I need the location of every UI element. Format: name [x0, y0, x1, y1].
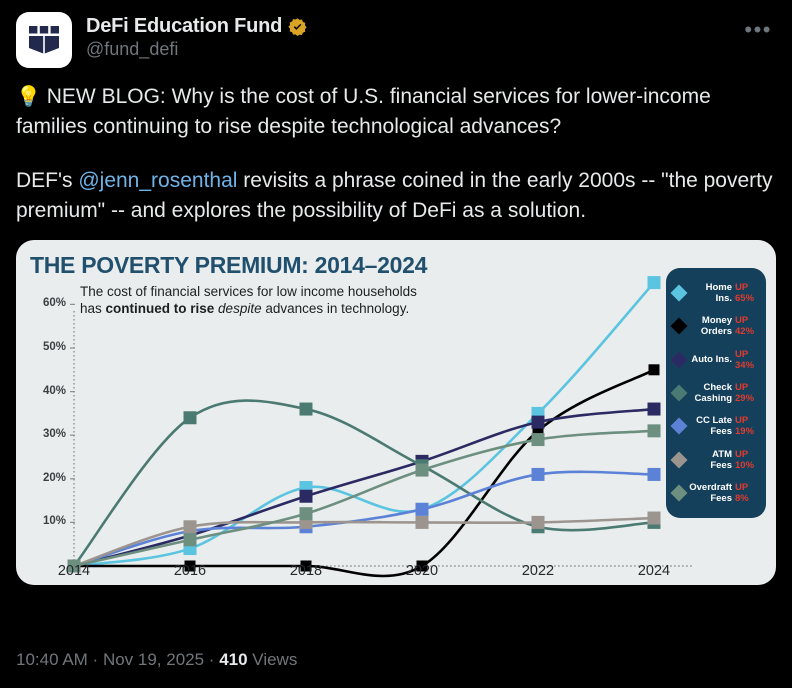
series-marker-2-4: [532, 416, 545, 429]
verified-badge-icon: [288, 17, 307, 36]
legend-change: UP8%: [735, 482, 760, 504]
legend-swatch-icon: [671, 284, 688, 301]
views-count: 410: [219, 650, 247, 669]
y-tick-30%: 30%: [32, 428, 66, 440]
x-tick-2018: 2018: [276, 563, 336, 579]
legend-label: CC Late Fees: [688, 415, 732, 437]
series-marker-6-4: [532, 433, 545, 446]
paragraph-spacer: [16, 142, 776, 166]
series-line-3: [74, 401, 654, 566]
meta-sep-2: ·: [204, 650, 219, 669]
legend-label: ATM Fees: [688, 449, 732, 471]
tweet-time: 10:40 AM: [16, 650, 88, 669]
more-options-icon[interactable]: •••: [740, 18, 776, 42]
y-tick-50%: 50%: [32, 341, 66, 353]
series-marker-1-5: [649, 364, 660, 375]
x-tick-2020: 2020: [392, 563, 452, 579]
x-tick-2014: 2014: [44, 563, 104, 579]
legend-item-6[interactable]: Overdraft FeesUP8%: [672, 482, 760, 504]
legend-change: UP65%: [735, 282, 760, 304]
series-marker-6-2: [300, 507, 313, 520]
legend-swatch-icon: [671, 418, 688, 435]
series-marker-4-5: [648, 468, 661, 481]
tweet-paragraph-1: 💡 NEW BLOG: Why is the cost of U.S. fina…: [16, 82, 776, 142]
defi-education-fund-logo: [24, 20, 64, 60]
legend-label: Overdraft Fees: [688, 482, 732, 504]
legend-swatch-icon: [671, 384, 688, 401]
x-tick-2024: 2024: [624, 563, 684, 579]
tweet-metadata: 10:40 AM · Nov 19, 2025 · 410 Views: [16, 650, 297, 670]
series-line-5: [74, 518, 654, 566]
series-marker-3-1: [184, 411, 197, 424]
chart-legend: Home Ins.UP65%Money OrdersUP42%Auto Ins.…: [666, 268, 766, 518]
legend-item-5[interactable]: ATM FeesUP10%: [672, 449, 760, 471]
legend-change: UP34%: [735, 349, 760, 371]
legend-swatch-icon: [671, 351, 688, 368]
series-marker-2-5: [648, 403, 661, 416]
series-marker-0-5: [648, 276, 661, 289]
display-name[interactable]: DeFi Education Fund: [86, 15, 282, 38]
legend-swatch-icon: [671, 485, 688, 502]
legend-swatch-icon: [671, 318, 688, 335]
meta-sep-1: ·: [88, 650, 103, 669]
series-marker-6-1: [184, 533, 197, 546]
chart-image-card[interactable]: THE POVERTY PREMIUM: 2014–2024 The cost …: [16, 240, 776, 585]
legend-label: Home Ins.: [688, 282, 732, 304]
legend-change: UP19%: [735, 415, 760, 437]
y-tick-10%: 10%: [32, 515, 66, 527]
views-label: Views: [248, 650, 298, 669]
poverty-premium-line-chart: [16, 240, 776, 585]
mention-link[interactable]: @jenn_rosenthal: [78, 169, 237, 192]
tweet-line-1: NEW BLOG: Why is the cost of U.S. financ…: [16, 85, 711, 138]
legend-change: UP10%: [735, 449, 760, 471]
series-marker-5-5: [648, 512, 661, 525]
tweet-card: DeFi Education Fund @fund_defi ••• 💡 NEW…: [0, 0, 792, 688]
avatar[interactable]: [16, 12, 72, 68]
tweet-date: Nov 19, 2025: [103, 650, 204, 669]
chart-series-markers: [68, 276, 661, 572]
x-tick-2016: 2016: [160, 563, 220, 579]
legend-change: UP42%: [735, 315, 760, 337]
legend-item-4[interactable]: CC Late FeesUP19%: [672, 415, 760, 437]
tweet-line-2-pre: DEF's: [16, 169, 78, 192]
series-marker-3-2: [300, 403, 313, 416]
y-tick-20%: 20%: [32, 472, 66, 484]
tweet-header: DeFi Education Fund @fund_defi •••: [0, 0, 792, 68]
account-handle[interactable]: @fund_defi: [86, 39, 740, 60]
legend-swatch-icon: [671, 451, 688, 468]
series-marker-5-3: [416, 516, 429, 529]
legend-label: Money Orders: [688, 315, 732, 337]
series-line-4: [74, 472, 654, 566]
tweet-text: 💡 NEW BLOG: Why is the cost of U.S. fina…: [0, 68, 792, 226]
series-line-6: [74, 431, 654, 566]
legend-item-2[interactable]: Auto Ins.UP34%: [672, 349, 760, 371]
series-line-0: [74, 283, 654, 566]
legend-item-1[interactable]: Money OrdersUP42%: [672, 315, 760, 337]
legend-label: Check Cashing: [688, 382, 732, 404]
series-marker-5-4: [532, 516, 545, 529]
x-tick-2022: 2022: [508, 563, 568, 579]
series-marker-6-3: [416, 464, 429, 477]
y-tick-40%: 40%: [32, 385, 66, 397]
chart-series-lines: [74, 283, 654, 576]
series-marker-4-4: [532, 468, 545, 481]
series-marker-6-5: [648, 424, 661, 437]
tweet-paragraph-2: DEF's @jenn_rosenthal revisits a phrase …: [16, 166, 776, 226]
lightbulb-icon: 💡: [16, 86, 41, 108]
legend-item-0[interactable]: Home Ins.UP65%: [672, 282, 760, 304]
series-marker-5-1: [184, 520, 197, 533]
y-tick-60%: 60%: [32, 297, 66, 309]
display-name-row: DeFi Education Fund: [86, 15, 740, 38]
legend-change: UP29%: [735, 382, 760, 404]
legend-label: Auto Ins.: [688, 354, 732, 365]
account-info: DeFi Education Fund @fund_defi: [86, 12, 740, 60]
series-marker-2-2: [300, 490, 313, 503]
series-marker-4-3: [416, 503, 429, 516]
legend-item-3[interactable]: Check CashingUP29%: [672, 382, 760, 404]
